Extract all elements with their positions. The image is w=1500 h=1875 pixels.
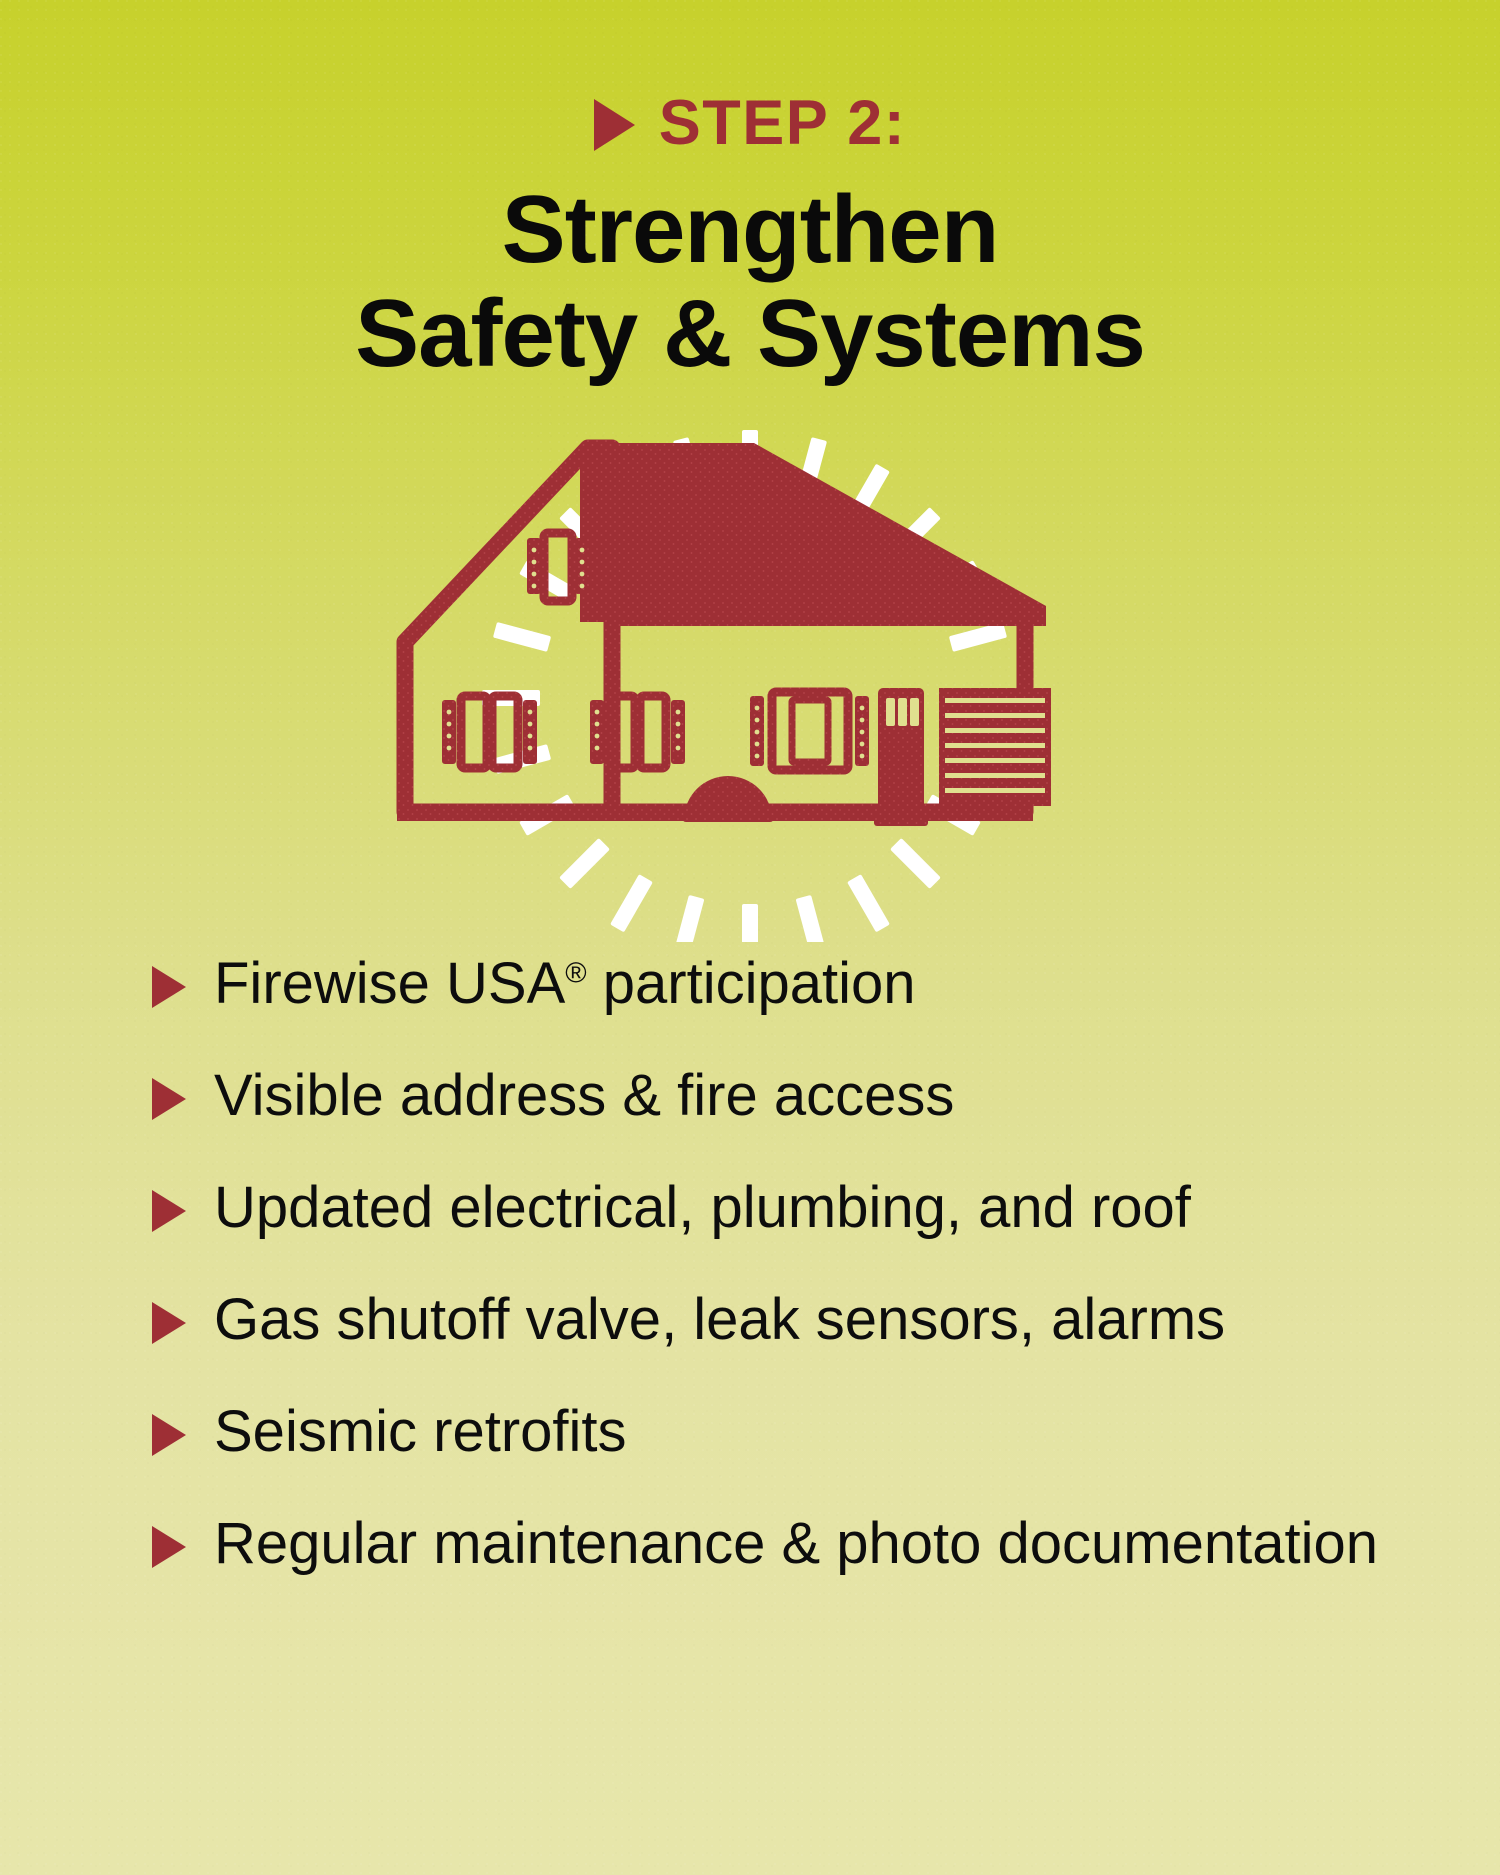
- roof-face: [598, 443, 1046, 626]
- list-item: Gas shutoff valve, leak sensors, alarms: [152, 1291, 1472, 1349]
- shrub-base: [682, 808, 774, 822]
- list-item-label: Seismic retrofits: [214, 1403, 627, 1461]
- play-triangle-icon: [594, 99, 635, 151]
- step-label: STEP 2:: [659, 92, 906, 155]
- list-item: Firewise USA® participation: [152, 955, 1472, 1013]
- page-title: Strengthen Safety & Systems: [0, 178, 1500, 385]
- front-door: [874, 688, 928, 826]
- play-triangle-icon: [152, 1526, 186, 1568]
- title-line-1: Strengthen: [0, 178, 1500, 282]
- play-triangle-icon: [152, 1078, 186, 1120]
- registered-trademark-icon: ®: [565, 958, 586, 990]
- play-triangle-icon: [152, 1302, 186, 1344]
- garage-door: [939, 688, 1051, 806]
- list-item-label: Regular maintenance & photo documentatio…: [214, 1515, 1378, 1573]
- list-item-label: Updated electrical, plumbing, and roof: [214, 1179, 1191, 1237]
- house-with-rays-illustration: [280, 430, 1220, 942]
- list-item: Visible address & fire access: [152, 1067, 1472, 1125]
- list-item: Updated electrical, plumbing, and roof: [152, 1179, 1472, 1237]
- step-header: STEP 2:: [0, 92, 1500, 155]
- play-triangle-icon: [152, 966, 186, 1008]
- play-triangle-icon: [152, 1190, 186, 1232]
- list-item-label: Gas shutoff valve, leak sensors, alarms: [214, 1291, 1225, 1349]
- list-item-label: Visible address & fire access: [214, 1067, 954, 1125]
- bullet-list: Firewise USA® participation Visible addr…: [152, 955, 1472, 1573]
- play-triangle-icon: [152, 1414, 186, 1456]
- picture-window: [750, 692, 869, 770]
- list-item-label: Firewise USA® participation: [214, 955, 916, 1013]
- list-item: Regular maintenance & photo documentatio…: [152, 1515, 1472, 1573]
- infographic-poster: STEP 2: Strengthen Safety & Systems: [0, 0, 1500, 1875]
- list-item: Seismic retrofits: [152, 1403, 1472, 1461]
- title-line-2: Safety & Systems: [0, 282, 1500, 386]
